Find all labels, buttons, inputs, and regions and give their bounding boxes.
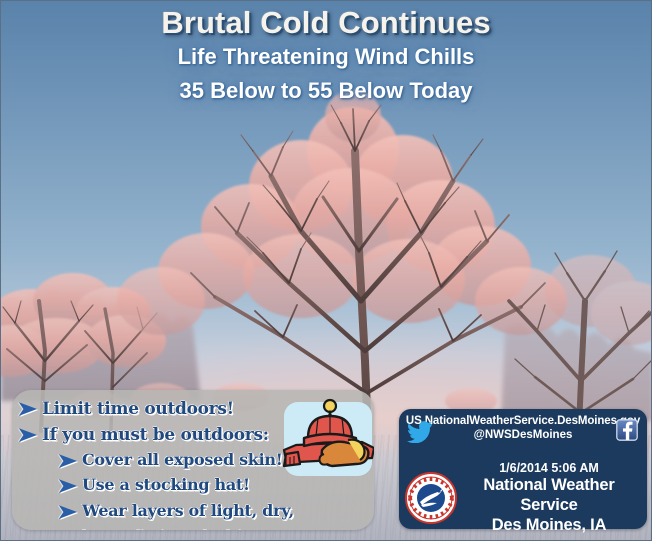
nws-text-column: 1/6/2014 5:06 AM National Weather Servic… bbox=[457, 461, 647, 535]
tip-text: Wear layers of light, dry, bbox=[82, 501, 294, 522]
bullet-arrow-icon: ➤ bbox=[57, 475, 85, 499]
tip-text: If you must be outdoors: bbox=[42, 424, 269, 446]
page-title: Brutal Cold Continues bbox=[1, 6, 651, 41]
agency-location-line-2: Des Moines, IA bbox=[457, 516, 641, 536]
list-item: ➤ Use a stocking hat! bbox=[20, 475, 374, 499]
headline-block: Brutal Cold Continues Life Threatening W… bbox=[1, 6, 651, 106]
tip-text: loose-fitting clothing. bbox=[82, 527, 271, 530]
subtitle-line-1: Life Threatening Wind Chills bbox=[1, 41, 651, 72]
nws-seal-icon bbox=[405, 472, 457, 524]
subtitle-line-2: 35 Below to 55 Below Today bbox=[1, 75, 651, 106]
nws-website-url[interactable]: US.NationalWeatherService.DesMoines.gov bbox=[399, 409, 647, 427]
bullet-arrow-icon: ➤ bbox=[17, 424, 45, 448]
safety-tips-list: ➤ Limit time outdoors! ➤ If you must be … bbox=[12, 390, 374, 530]
agency-name-line-1: National Weather Service bbox=[457, 476, 641, 516]
tip-text: Cover all exposed skin! bbox=[82, 450, 282, 471]
issuance-timestamp: 1/6/2014 5:06 AM bbox=[457, 461, 641, 475]
bullet-arrow-icon: ➤ bbox=[57, 450, 85, 474]
nws-identity-row: 1/6/2014 5:06 AM National Weather Servic… bbox=[399, 461, 647, 535]
tip-text: Use a stocking hat! bbox=[82, 475, 250, 496]
list-item: ➤ Limit time outdoors! bbox=[20, 398, 374, 422]
tip-text: Limit time outdoors! bbox=[42, 398, 234, 420]
list-item: loose-fitting clothing. bbox=[20, 527, 374, 530]
weather-alert-graphic: Brutal Cold Continues Life Threatening W… bbox=[0, 0, 652, 541]
bullet-arrow-icon: ➤ bbox=[57, 501, 85, 525]
bullet-arrow-icon: ➤ bbox=[17, 398, 45, 422]
nws-twitter-handle[interactable]: @NWSDesMoines bbox=[399, 429, 647, 441]
twitter-bird-icon[interactable] bbox=[407, 421, 433, 443]
list-item: ➤ If you must be outdoors: bbox=[20, 424, 374, 448]
list-item: ➤ Wear layers of light, dry, bbox=[20, 501, 374, 525]
safety-tips-panel: ➤ Limit time outdoors! ➤ If you must be … bbox=[12, 390, 374, 530]
list-item: ➤ Cover all exposed skin! bbox=[20, 450, 374, 474]
nws-branding-panel: US.NationalWeatherService.DesMoines.gov … bbox=[399, 409, 647, 529]
facebook-f-icon[interactable] bbox=[616, 419, 638, 441]
